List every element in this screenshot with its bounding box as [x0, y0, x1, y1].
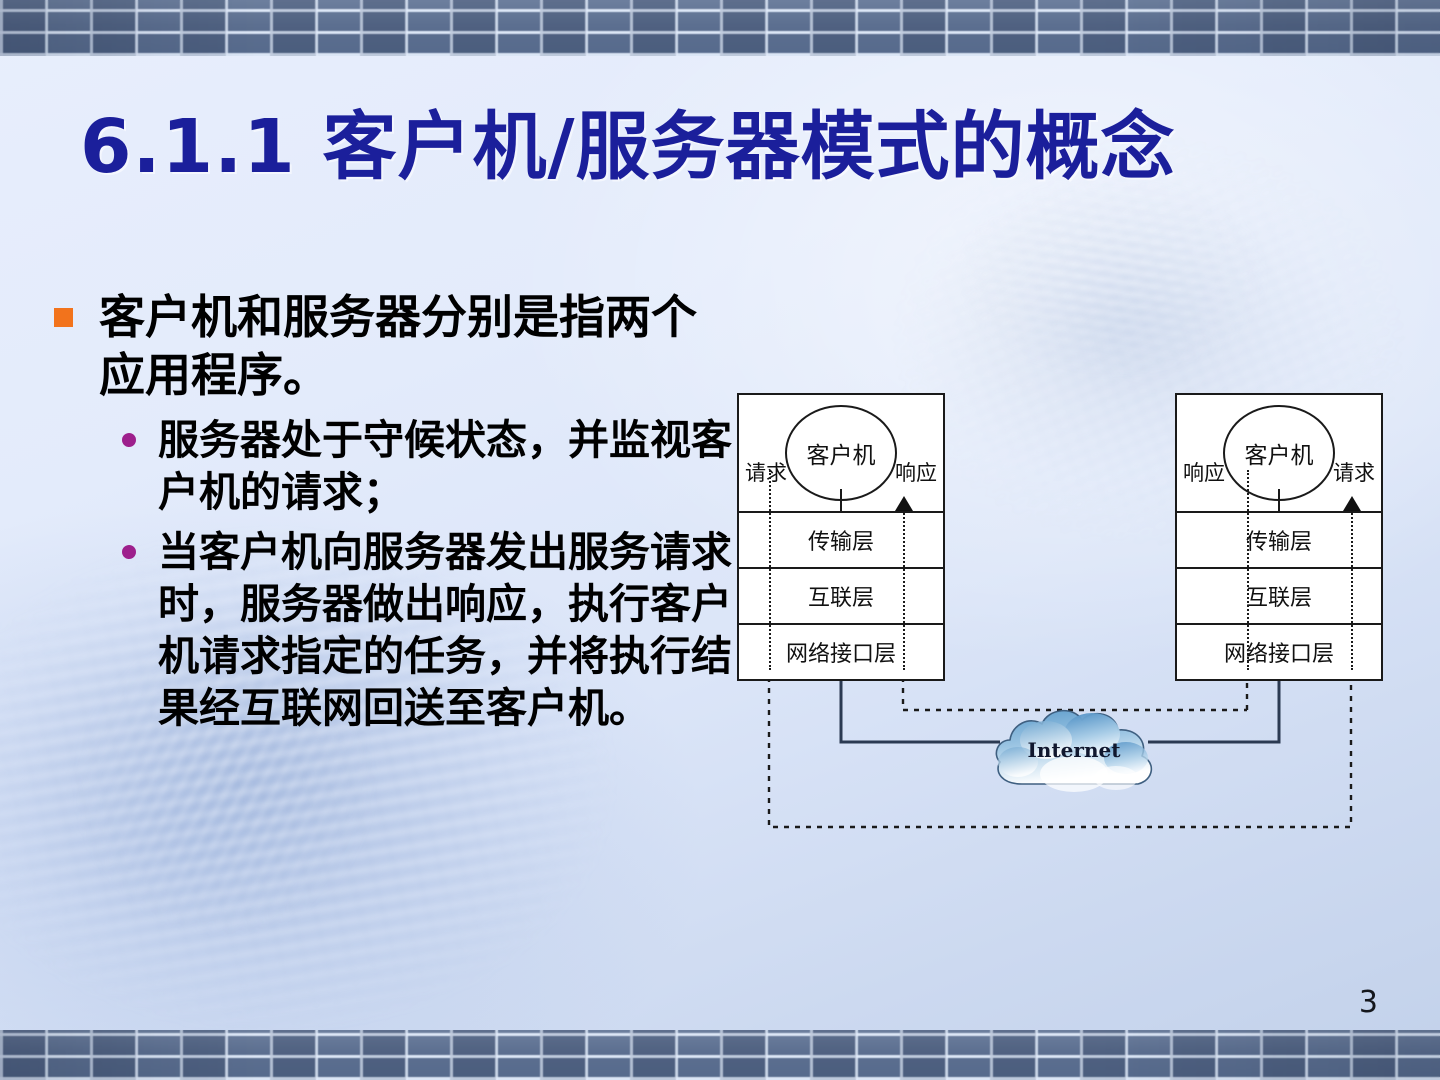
- page-number: 3: [1359, 985, 1378, 1020]
- bullet-level1: 客户机和服务器分别是指两个应用程序。: [54, 288, 734, 404]
- right-host-response-channel: [1247, 470, 1249, 670]
- cloud-label: Internet: [988, 738, 1160, 762]
- internet-cloud: Internet: [988, 700, 1160, 804]
- client-server-diagram: 客户机 请求 响应 传输层 互联层 网络接口层 客户机 响应 请求 传输层 互联…: [700, 380, 1420, 850]
- square-bullet-icon: [54, 308, 73, 327]
- left-host-response-channel: [903, 498, 905, 670]
- client-node-right: 客户机: [1223, 405, 1335, 501]
- bullet-level2-text: 服务器处于守候状态，并监视客户机的请求；: [158, 414, 734, 518]
- label-left-request: 请求: [745, 457, 787, 487]
- brick-border-top: [0, 0, 1440, 56]
- bullet-level2-second: 当客户机向服务器发出服务请求时，服务器做出响应，执行客户机请求指定的任务，并将执…: [54, 526, 734, 734]
- right-request-arrowhead-icon: [1343, 496, 1361, 511]
- client-stem-right: [1278, 489, 1280, 511]
- brick-border-bottom: [0, 1030, 1440, 1080]
- label-left-response: 响应: [895, 457, 937, 487]
- client-stem-left: [840, 489, 842, 511]
- left-host-request-channel: [769, 470, 771, 670]
- client-node-left: 客户机: [785, 405, 897, 501]
- bullet-level1-text: 客户机和服务器分别是指两个应用程序。: [99, 288, 734, 404]
- slide-canvas: 6.1.1 客户机/服务器模式的概念 客户机和服务器分别是指两个应用程序。 服务…: [0, 0, 1440, 1080]
- round-bullet-icon: [122, 545, 136, 559]
- bullet-list: 客户机和服务器分别是指两个应用程序。 服务器处于守候状态，并监视客户机的请求； …: [54, 288, 734, 734]
- round-bullet-icon: [122, 433, 136, 447]
- left-response-arrowhead-icon: [895, 496, 913, 511]
- bullet-level2-first: 服务器处于守候状态，并监视客户机的请求；: [54, 414, 734, 518]
- brick-blur: [0, 1030, 1440, 1080]
- brick-blur: [0, 0, 1440, 56]
- slide-title: 6.1.1 客户机/服务器模式的概念: [80, 104, 1380, 190]
- right-host-request-channel: [1351, 498, 1353, 670]
- label-right-response: 响应: [1183, 457, 1225, 487]
- label-right-request: 请求: [1333, 457, 1375, 487]
- bullet-level2-text: 当客户机向服务器发出服务请求时，服务器做出响应，执行客户机请求指定的任务，并将执…: [158, 526, 734, 734]
